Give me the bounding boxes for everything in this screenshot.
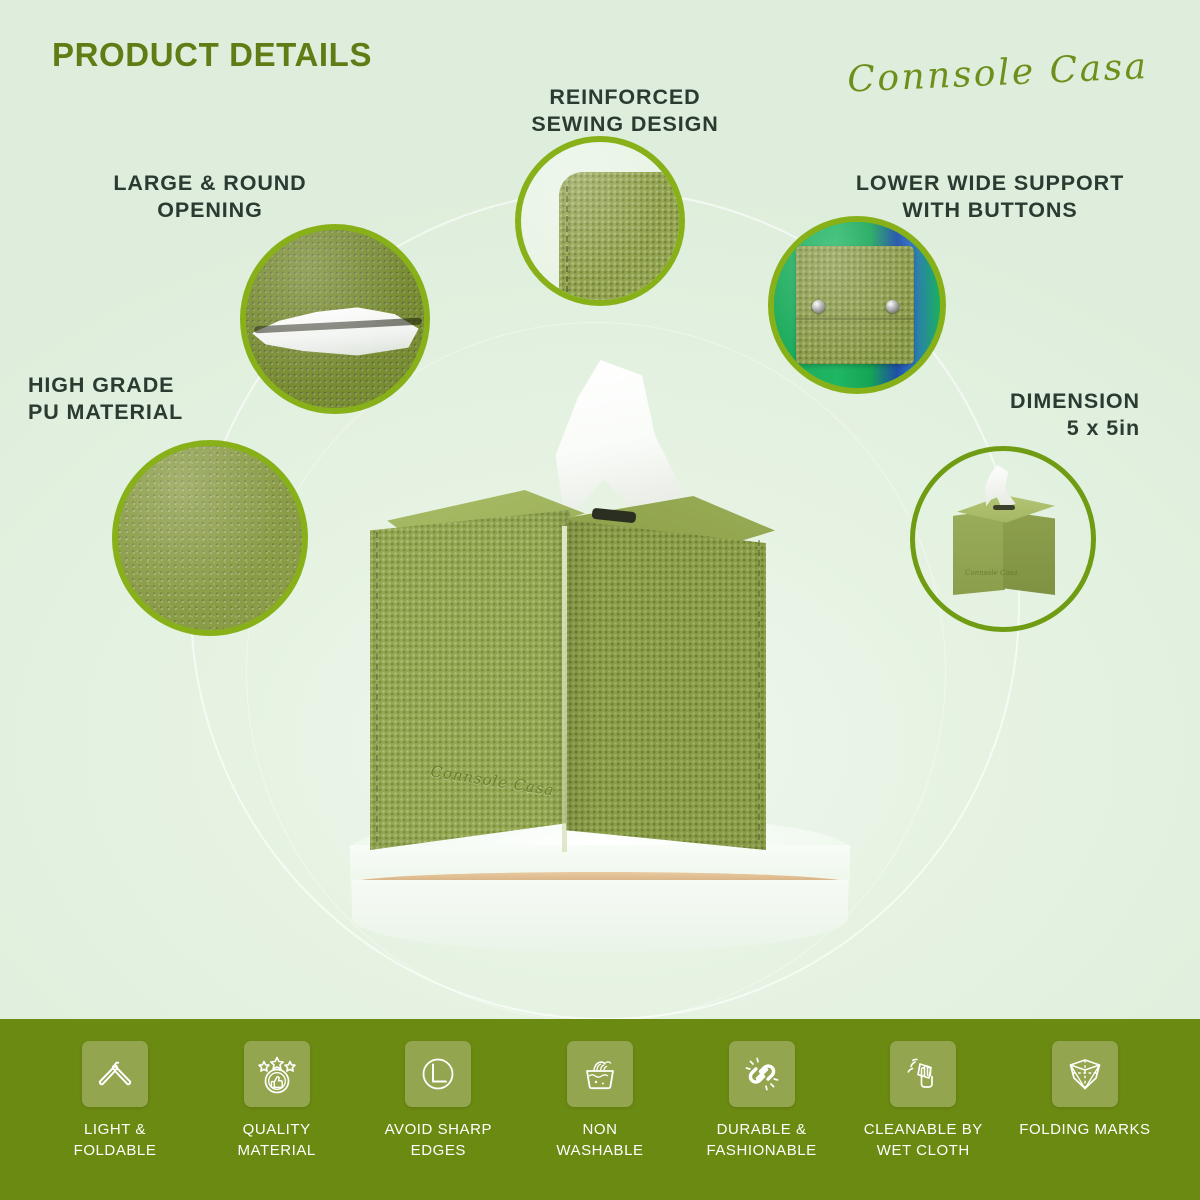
box-right-face: [566, 520, 766, 850]
wiping-hand-icon: [901, 1052, 945, 1096]
mini-emboss: Connsole Casa: [965, 569, 1017, 577]
feature-cleanable-wet-cloth[interactable]: CLEANABLE BY WET CLOTH: [848, 1041, 998, 1162]
highlight-sheen: [521, 142, 679, 300]
infographic-canvas: PRODUCT DETAILS Connsole Casa LARGE & RO…: [0, 0, 1200, 1200]
feature-tile: [1052, 1041, 1118, 1107]
feature-row: LIGHT & FOLDABLE: [40, 1041, 1160, 1162]
feature-tile: [729, 1041, 795, 1107]
feature-label: CLEANABLE BY WET CLOTH: [864, 1119, 983, 1162]
feature-label: AVOID SHARP EDGES: [385, 1119, 492, 1162]
callout-image-dimension: Connsole Casa: [910, 446, 1096, 632]
highlight-sheen: [118, 446, 302, 630]
feature-tile: [890, 1041, 956, 1107]
feature-tile: [405, 1041, 471, 1107]
feature-label: NON WASHABLE: [556, 1119, 643, 1162]
feature-durable-fashionable[interactable]: DURABLE & FASHIONABLE: [687, 1041, 837, 1162]
callout-label-dimension: DIMENSION 5 x 5in: [860, 388, 1140, 442]
page-title: PRODUCT DETAILS: [52, 36, 372, 74]
feature-light-foldable[interactable]: LIGHT & FOLDABLE: [40, 1041, 190, 1162]
box-center-seam: [562, 526, 567, 852]
stitch-right-edge: [758, 540, 760, 840]
callout-label-lower-wide-support: LOWER WIDE SUPPORT WITH BUTTONS: [820, 170, 1160, 224]
callout-label-reinforced-sewing-design: REINFORCED SEWING DESIGN: [480, 84, 770, 138]
mini-box-right-face: [1003, 511, 1055, 595]
callout-image-reinforced-sewing: [515, 136, 685, 306]
feature-quality-material[interactable]: QUALITY MATERIAL: [202, 1041, 352, 1162]
hanger-icon: [94, 1053, 136, 1095]
feature-non-washable[interactable]: NON WASHABLE: [525, 1041, 675, 1162]
feature-bar: LIGHT & FOLDABLE: [0, 1019, 1200, 1200]
feature-tile: [244, 1041, 310, 1107]
callout-label-large-round-opening: LARGE & ROUND OPENING: [80, 170, 340, 224]
stitch-left-edge: [376, 532, 378, 842]
chain-link-icon: [740, 1052, 784, 1096]
no-wash-icon: [578, 1052, 622, 1096]
feature-avoid-sharp-edges[interactable]: AVOID SHARP EDGES: [363, 1041, 513, 1162]
folding-diagram-icon: [1063, 1052, 1107, 1096]
thumbs-up-stars-icon: [254, 1051, 300, 1097]
feature-tile: [567, 1041, 633, 1107]
feature-folding-marks[interactable]: FOLDING MARKS: [1010, 1041, 1160, 1140]
feature-label: FOLDING MARKS: [1019, 1119, 1150, 1140]
hero-product-image: Connsole Casa: [330, 360, 890, 920]
mini-slot: [993, 505, 1015, 510]
callout-image-high-grade-pu-material: [112, 440, 308, 636]
feature-tile: [82, 1041, 148, 1107]
feature-label: LIGHT & FOLDABLE: [74, 1119, 157, 1162]
mini-box-left-face: [953, 509, 1005, 595]
mini-product-view: Connsole Casa: [915, 451, 1091, 627]
brand-logo-wordmark: Connsole Casa: [846, 46, 1149, 101]
no-sharp-edge-icon: [417, 1053, 459, 1095]
box-left-face: [370, 510, 570, 850]
feature-label: DURABLE & FASHIONABLE: [706, 1119, 816, 1162]
feature-label: QUALITY MATERIAL: [238, 1119, 316, 1162]
